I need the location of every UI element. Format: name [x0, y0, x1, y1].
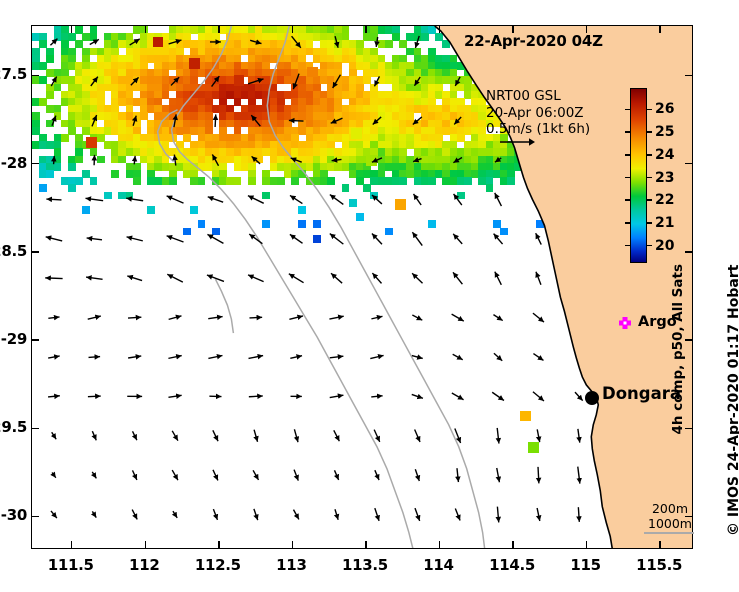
current-vector: [168, 356, 181, 359]
current-vector: [493, 315, 502, 321]
current-vector: [575, 392, 583, 401]
current-vector: [48, 396, 60, 397]
current-vector: [174, 155, 175, 166]
current-vector: [412, 273, 422, 283]
colorbar-tick: [625, 177, 630, 179]
current-vector: [453, 354, 463, 359]
current-vector: [133, 116, 136, 126]
current-vector: [333, 75, 341, 88]
current-vector: [289, 316, 303, 319]
x-tick: [292, 541, 294, 548]
current-vector: [374, 76, 379, 86]
current-vector: [372, 233, 382, 244]
colorbar-tick-label: 23: [655, 170, 674, 186]
colorbar-tick-label: 21: [655, 215, 674, 231]
y-axis-label: -30: [1, 506, 27, 524]
current-vector: [455, 429, 461, 443]
current-vector: [289, 120, 304, 121]
vector-key-line1: NRT00 GSL: [486, 88, 590, 105]
colorbar-tick: [625, 245, 630, 247]
current-vector: [414, 77, 420, 86]
current-vector: [290, 234, 303, 243]
current-vector: [128, 356, 141, 358]
current-vector: [412, 394, 423, 398]
current-vector: [51, 77, 56, 87]
current-vector: [533, 354, 543, 361]
current-vector: [494, 234, 503, 244]
current-vector: [334, 430, 340, 441]
vector-key-line2: 20-Apr 06:00Z: [486, 105, 590, 122]
current-vector: [335, 36, 338, 48]
current-vector: [90, 39, 99, 44]
depth-key-line2: 1000m: [648, 516, 692, 531]
colorbar-tick-label: 22: [655, 192, 674, 208]
colorbar-tick-label: 24: [655, 147, 674, 163]
depth-key-rule: [644, 532, 694, 534]
colorbar-tick: [625, 154, 630, 156]
current-vector: [453, 157, 462, 162]
current-vector: [453, 272, 462, 284]
colorbar-tick: [647, 154, 652, 156]
map-plot-frame: [31, 25, 693, 549]
current-vector: [331, 118, 343, 123]
current-vector: [133, 431, 137, 440]
x-tick: [71, 541, 73, 548]
current-vector: [172, 431, 178, 441]
current-vector: [92, 511, 96, 517]
current-vector: [294, 429, 298, 442]
current-vector: [167, 274, 183, 282]
current-vector: [52, 116, 56, 126]
current-vector: [370, 355, 383, 358]
x-tick-top: [659, 26, 661, 33]
current-vector: [492, 392, 504, 400]
colorbar-tick-label: 26: [655, 101, 674, 117]
current-vector: [54, 156, 55, 164]
vector-key-line3: 0.5m/s (1kt 6h): [486, 121, 590, 138]
current-vector: [127, 237, 143, 241]
right-arrow-icon: [500, 137, 536, 147]
current-vector: [213, 470, 218, 481]
colorbar-tick: [647, 109, 652, 111]
colorbar-tick: [625, 199, 630, 201]
x-tick: [439, 541, 441, 548]
current-vector: [169, 316, 182, 320]
current-vector: [252, 156, 260, 163]
current-vector: [253, 470, 258, 480]
current-vector: [454, 117, 461, 124]
y-tick: [32, 516, 39, 518]
current-vector: [330, 395, 344, 397]
current-vector: [169, 40, 182, 44]
current-vector: [293, 510, 298, 520]
current-vector: [127, 276, 142, 281]
current-vector: [208, 355, 222, 358]
current-vector: [48, 317, 59, 318]
colorbar-tick: [647, 245, 652, 247]
current-vector: [289, 274, 304, 283]
current-vector: [213, 509, 217, 520]
current-vector: [495, 158, 501, 162]
colorbar-tick: [647, 177, 652, 179]
current-vector: [294, 470, 298, 481]
current-vector: [254, 430, 257, 442]
x-tick: [145, 541, 147, 548]
y-tick-right: [685, 163, 692, 165]
current-vector: [293, 74, 299, 90]
argo-float-marker: [619, 317, 631, 329]
x-tick-top: [439, 26, 441, 33]
current-vector: [130, 39, 140, 45]
credit-text: © IMOS 24-Apr-2020 01:17 Hobart: [726, 265, 739, 536]
current-vector: [126, 198, 143, 201]
current-vector: [292, 36, 301, 48]
current-vector: [374, 430, 380, 442]
depth-key-line1: 200m: [648, 501, 692, 516]
current-vector: [415, 429, 420, 442]
current-vector: [51, 511, 57, 518]
current-vector: [167, 236, 184, 242]
current-vector: [452, 314, 464, 321]
current-vector: [372, 273, 381, 283]
current-vector: [453, 234, 462, 244]
y-tick: [32, 428, 39, 430]
x-tick: [659, 541, 661, 548]
colorbar-tick: [647, 222, 652, 224]
current-vector: [45, 278, 62, 279]
current-vector: [413, 159, 421, 162]
current-vector: [46, 199, 61, 200]
current-vector: [332, 159, 342, 160]
current-vector: [494, 353, 502, 361]
current-vector: [330, 234, 344, 245]
current-vector: [495, 272, 502, 285]
current-vector: [249, 234, 262, 244]
current-vector: [452, 393, 464, 400]
current-vector: [213, 430, 218, 441]
current-vector: [329, 316, 343, 319]
current-vector: [212, 76, 220, 86]
x-tick: [512, 541, 514, 548]
current-vector: [536, 272, 541, 285]
current-vector: [168, 395, 181, 397]
current-vector: [132, 470, 136, 480]
x-axis-label: 112: [129, 556, 159, 574]
current-vector: [330, 195, 343, 205]
current-vector: [415, 469, 419, 481]
current-vector: [533, 313, 544, 322]
current-vector: [134, 156, 135, 164]
colorbar-tick: [625, 222, 630, 224]
colorbar-tick-label: 20: [655, 238, 674, 254]
current-vector: [50, 39, 57, 46]
y-tick: [32, 339, 39, 341]
current-vector: [88, 316, 101, 319]
current-vector: [578, 507, 579, 522]
current-vector: [290, 195, 302, 203]
x-axis-label: 114: [423, 556, 453, 574]
current-vector: [497, 428, 499, 444]
colorbar-title: 4h comp, p50, All Sats: [670, 264, 686, 435]
y-tick: [32, 163, 39, 165]
current-vector: [172, 470, 178, 480]
current-vector: [495, 193, 502, 206]
current-vector: [91, 77, 98, 86]
colorbar-tick: [625, 109, 630, 111]
current-vector: [457, 468, 458, 482]
current-vector: [291, 158, 302, 162]
current-vector: [331, 273, 342, 283]
current-vector: [251, 115, 260, 126]
current-vector: [334, 470, 338, 480]
current-vector: [412, 232, 422, 245]
colorbar-tick: [647, 131, 652, 133]
current-vector: [375, 508, 379, 521]
current-vector: [131, 77, 139, 85]
y-axis-label: -29.5: [0, 418, 27, 436]
map-title: 22-Apr-2020 04Z: [464, 32, 603, 50]
current-vector: [537, 429, 539, 442]
current-vector: [92, 115, 97, 126]
y-tick-right: [685, 428, 692, 430]
current-vector: [212, 154, 218, 165]
current-vector: [578, 467, 580, 484]
current-vector: [415, 36, 419, 48]
x-tick-top: [292, 26, 294, 33]
city-dot-marker: [585, 391, 599, 405]
x-tick-top: [218, 26, 220, 33]
current-vector: [249, 396, 263, 397]
vector-scale-key: NRT00 GSL 20-Apr 06:00Z 0.5m/s (1kt 6h): [486, 88, 590, 138]
current-vector: [250, 40, 261, 43]
current-vector: [455, 77, 460, 86]
current-vector: [412, 356, 423, 359]
x-tick-top: [145, 26, 147, 33]
x-axis-label: 113: [276, 556, 306, 574]
current-vector: [207, 234, 223, 243]
y-axis-label: -28: [1, 154, 27, 172]
current-vector: [167, 196, 184, 203]
x-tick-top: [365, 26, 367, 33]
y-tick-right: [685, 339, 692, 341]
current-vector: [497, 507, 498, 523]
current-vector: [414, 194, 422, 205]
current-vector: [89, 357, 101, 358]
colorbar-tick: [625, 131, 630, 133]
current-vector: [536, 233, 542, 244]
current-vector: [578, 429, 580, 443]
current-vector: [248, 275, 264, 282]
y-tick: [32, 251, 39, 253]
current-vector: [52, 432, 56, 439]
y-axis-label: -27.5: [0, 65, 27, 83]
y-tick: [32, 75, 39, 77]
current-vector: [171, 77, 179, 85]
current-vector: [132, 510, 137, 520]
colorbar-tick: [647, 199, 652, 201]
current-vector: [174, 114, 176, 127]
y-tick-right: [685, 251, 692, 253]
x-tick: [586, 541, 588, 548]
colorbar-tick-label: 25: [655, 124, 674, 140]
y-tick-right: [685, 75, 692, 77]
current-vector: [455, 508, 460, 520]
current-vector: [46, 237, 62, 241]
current-vector: [173, 511, 177, 518]
current-vector: [85, 198, 103, 200]
current-vector: [330, 356, 344, 358]
current-vector: [538, 467, 539, 483]
current-vector: [415, 508, 420, 521]
current-vector-layer: [32, 26, 692, 548]
x-axis-label: 111.5: [48, 556, 94, 574]
current-vector: [48, 356, 60, 358]
current-vector: [537, 508, 540, 521]
x-axis-label: 112.5: [195, 556, 241, 574]
current-vector: [373, 117, 381, 125]
depth-contour-key: 200m 1000m: [648, 501, 692, 531]
map-canvas: [32, 26, 692, 548]
current-vector: [208, 197, 223, 202]
current-vector: [92, 472, 96, 478]
x-axis-label: 115.5: [636, 556, 682, 574]
current-vector: [88, 396, 101, 397]
current-vector: [128, 317, 141, 318]
current-vector: [249, 356, 264, 359]
current-vector: [454, 194, 462, 205]
current-vector: [215, 114, 216, 127]
x-axis-label: 114.5: [489, 556, 535, 574]
current-vector: [207, 275, 224, 281]
y-axis-label: -28.5: [0, 242, 27, 260]
current-vector: [372, 158, 382, 162]
current-vector: [376, 37, 377, 47]
current-vector: [87, 238, 102, 240]
y-axis-label: -29: [1, 330, 27, 348]
current-vector: [497, 468, 500, 482]
current-vector: [248, 196, 264, 204]
current-vector: [86, 277, 102, 279]
current-vector: [413, 117, 422, 125]
current-vector: [533, 392, 544, 401]
current-vector: [52, 472, 56, 477]
current-vector: [375, 470, 379, 480]
current-vector: [249, 317, 262, 318]
x-tick-top: [71, 26, 73, 33]
current-vector: [372, 195, 382, 204]
x-tick: [218, 541, 220, 548]
colorbar-gradient: [630, 88, 647, 263]
current-vector: [92, 431, 96, 440]
x-axis-label: 115: [570, 556, 600, 574]
current-vector: [335, 509, 338, 520]
x-tick: [365, 541, 367, 548]
current-vector: [371, 396, 382, 397]
current-vector: [371, 316, 382, 319]
current-vector: [208, 317, 222, 319]
current-vector: [412, 315, 422, 320]
x-axis-label: 113.5: [342, 556, 388, 574]
current-vector: [248, 79, 263, 84]
current-vector: [290, 356, 302, 359]
current-vector: [254, 509, 258, 520]
